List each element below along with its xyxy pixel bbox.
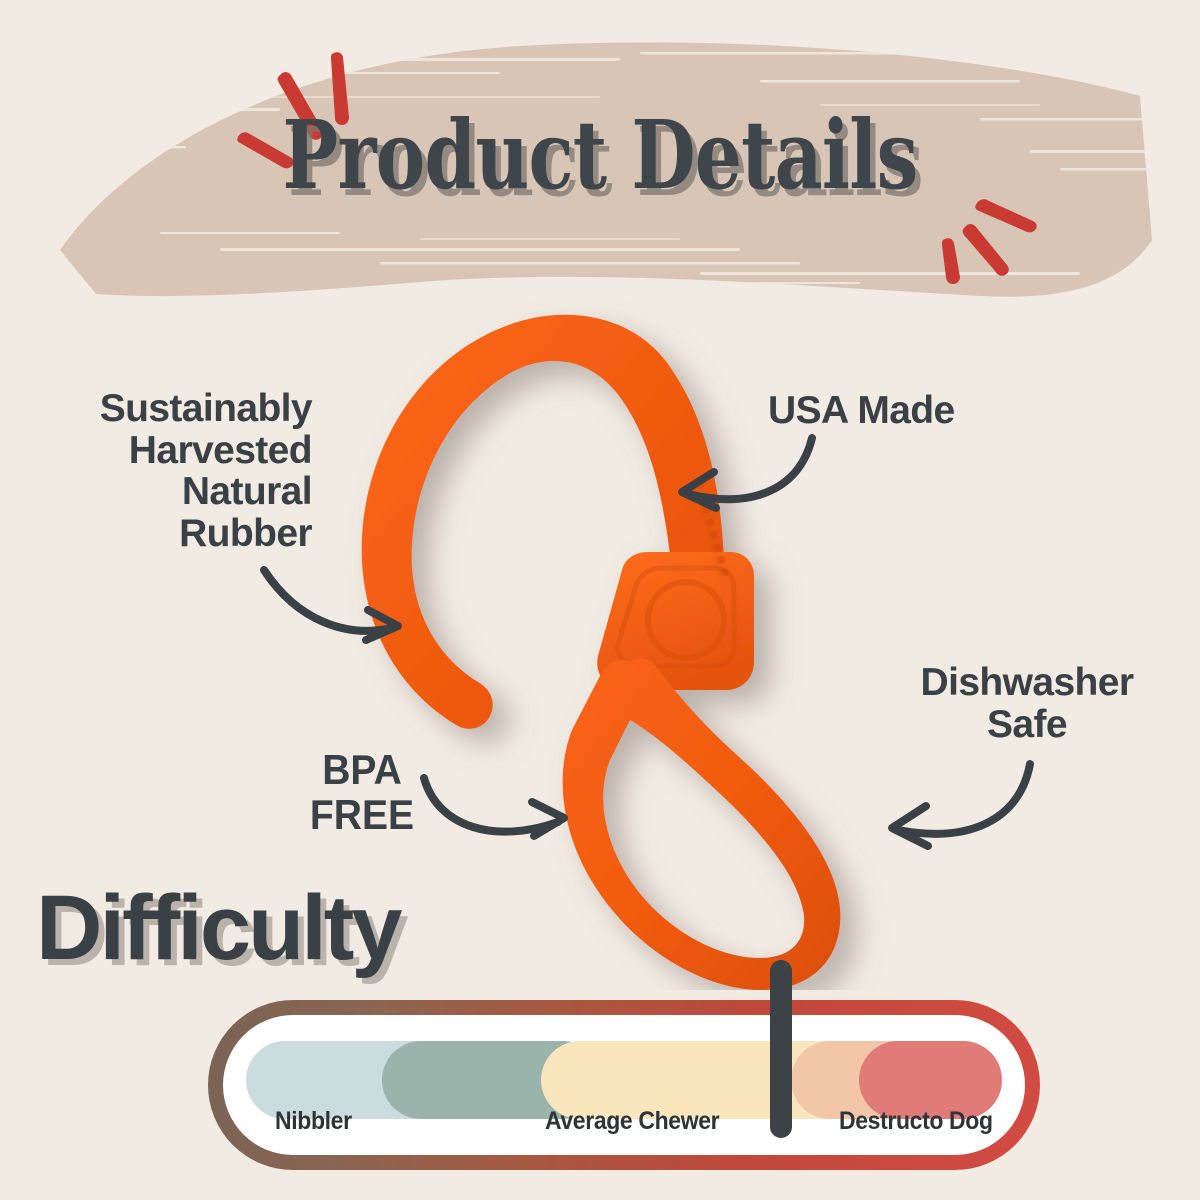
feature-line: BPA [297,748,427,793]
feature-label-usa-made: USA Made [768,390,955,432]
difficulty-heading: Difficulty [36,882,400,974]
feature-line: Harvested [12,430,312,472]
feature-line: FREE [297,793,427,838]
feature-line: Dishwasher [862,662,1192,704]
meter-label-average-chewer: Average Chewer [545,1107,719,1136]
meter-inner: Nibbler Average Chewer Destructo Dog [223,1015,1025,1155]
feature-line: USA Made [768,390,955,432]
feature-line: Sustainably [12,388,312,430]
feature-line: Rubber [12,513,312,555]
meter-labels: Nibbler Average Chewer Destructo Dog [223,1107,1025,1143]
feature-line: Natural [12,471,312,513]
meter-label-destructo-dog: Destructo Dog [839,1107,993,1136]
page-title: Product Details [283,108,918,203]
difficulty-meter: Nibbler Average Chewer Destructo Dog [208,1000,1040,1170]
difficulty-indicator-bar [770,960,792,1138]
meter-label-nibbler: Nibbler [275,1107,352,1136]
page-title-wrapper: Product Details [0,108,1200,203]
feature-label-dishwasher-safe: Dishwasher Safe [862,662,1192,745]
feature-line: Safe [862,704,1192,746]
feature-label-sustainably-harvested-natural-rubber: Sustainably Harvested Natural Rubber [12,388,312,555]
feature-label-bpa-free: BPA FREE [297,748,427,838]
infographic-canvas: Product Details [0,0,1200,1200]
